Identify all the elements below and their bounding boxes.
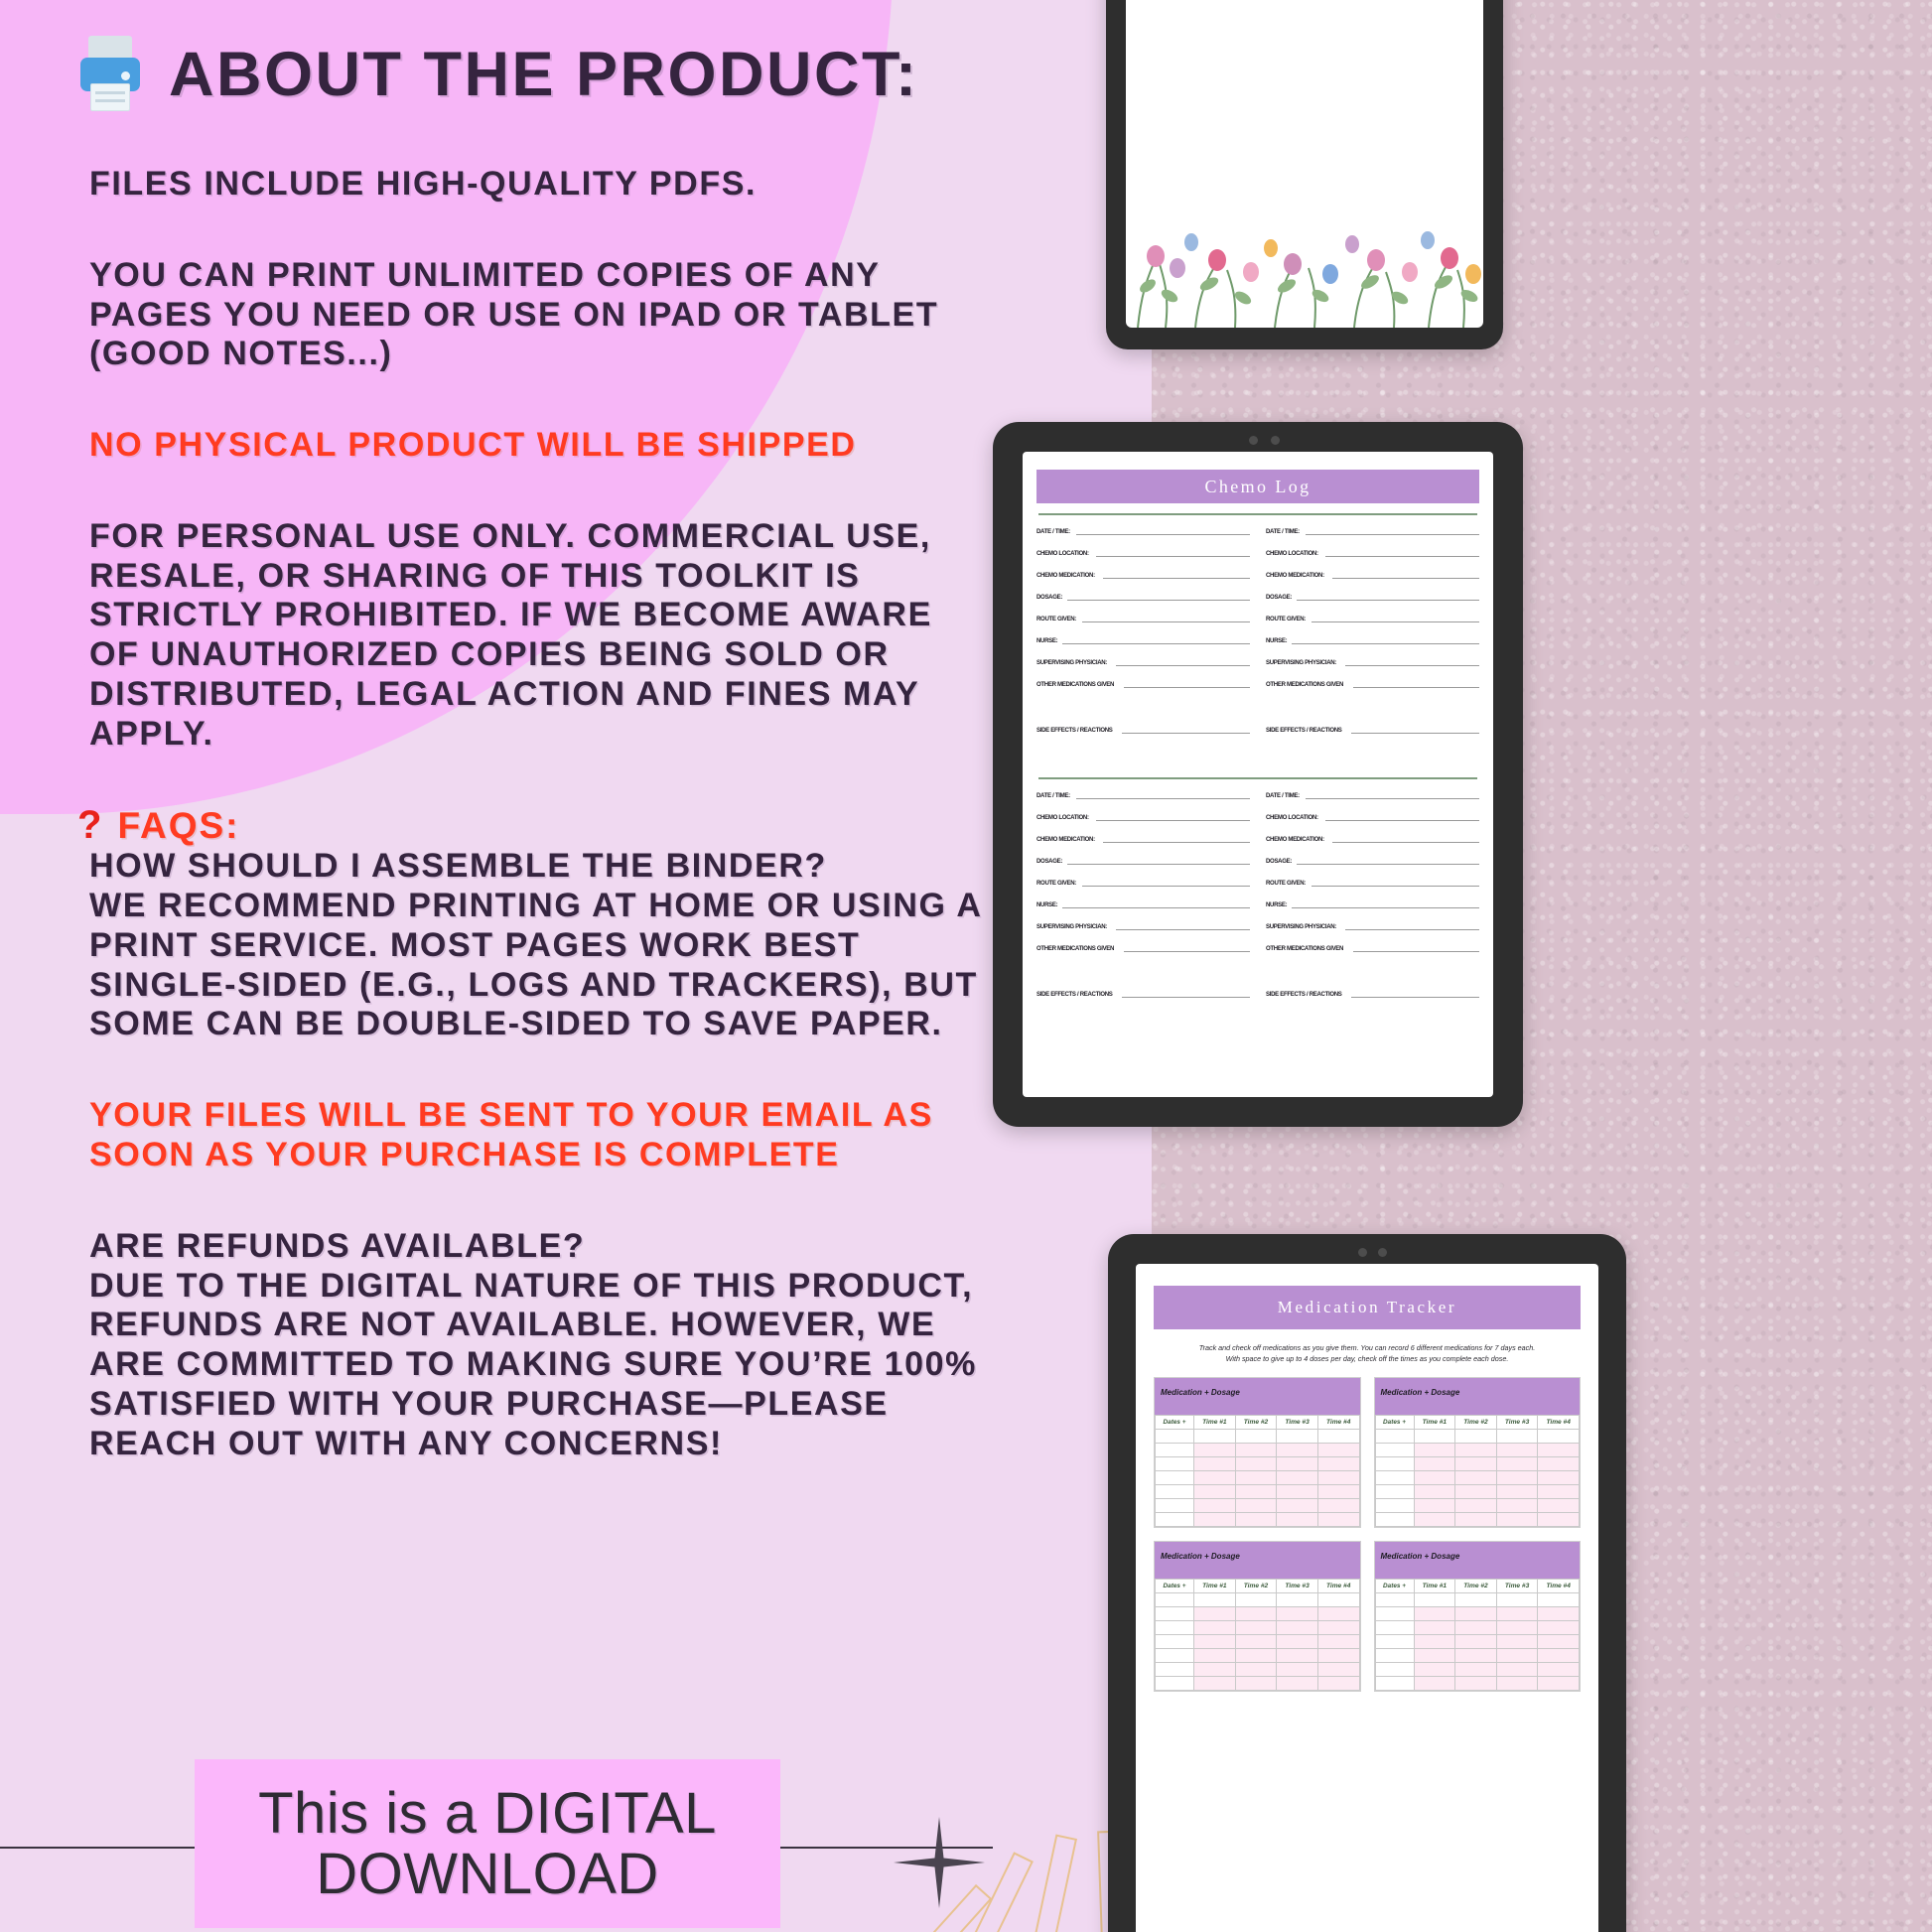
time-cell[interactable] [1538,1471,1580,1485]
chemo-field-line[interactable] [1311,879,1479,887]
chemo-field-label: ROUTE GIVEN: [1266,616,1306,622]
chemo-field-label: NURSE: [1036,901,1057,908]
chemo-side-effects-line[interactable] [1122,726,1250,734]
medication-table: Dates +Time #1Time #2Time #3Time #4 [1155,1579,1360,1691]
date-cell[interactable] [1375,1663,1414,1677]
chemo-field: SUPERVISING PHYSICIAN: [1266,922,1479,930]
time-cell[interactable] [1538,1457,1580,1471]
table-row [1156,1677,1360,1691]
time-cell[interactable] [1235,1485,1277,1499]
time-cell[interactable] [1455,1499,1497,1513]
time-cell[interactable] [1414,1430,1455,1444]
time-cell[interactable] [1496,1635,1538,1649]
medication-card-header-label: Medication + Dosage [1161,1388,1240,1397]
time-cell[interactable] [1235,1513,1277,1527]
chemo-field-line[interactable] [1292,900,1479,908]
chemo-field-line[interactable] [1116,922,1250,930]
table-row [1375,1677,1580,1691]
time-cell[interactable] [1455,1649,1497,1663]
time-cell[interactable] [1496,1457,1538,1471]
table-row [1156,1471,1360,1485]
chemo-field-line[interactable] [1103,835,1250,843]
date-cell[interactable] [1156,1471,1194,1485]
time-cell[interactable] [1235,1607,1277,1621]
time-cell[interactable] [1496,1663,1538,1677]
time-cell[interactable] [1277,1471,1318,1485]
table-row [1156,1499,1360,1513]
date-cell[interactable] [1156,1621,1194,1635]
column-header: Time #1 [1194,1580,1236,1593]
date-cell[interactable] [1156,1677,1194,1691]
text-email-notice: YOUR FILES WILL BE SENT TO YOUR EMAIL AS… [0,1096,1033,1175]
faq-question-refunds: ARE REFUNDS AVAILABLE? [0,1227,1033,1267]
time-cell[interactable] [1194,1471,1236,1485]
chemo-field-label: DATE / TIME: [1266,792,1300,799]
chemo-field-label: CHEMO LOCATION: [1036,814,1089,821]
time-cell[interactable] [1235,1621,1277,1635]
chemo-log-title: Chemo Log [1204,477,1311,497]
chemo-field-line[interactable] [1082,879,1250,887]
time-cell[interactable] [1235,1471,1277,1485]
chemo-log-screen: Chemo Log DATE / TIME:CHEMO LOCATION:CHE… [1023,452,1493,1097]
date-cell[interactable] [1375,1649,1414,1663]
time-cell[interactable] [1455,1457,1497,1471]
column-header: Time #3 [1496,1580,1538,1593]
date-cell[interactable] [1375,1607,1414,1621]
chemo-field: DOSAGE: [1266,593,1479,601]
time-cell[interactable] [1317,1635,1359,1649]
chemo-field-label: NURSE: [1036,637,1057,644]
time-cell[interactable] [1235,1457,1277,1471]
time-cell[interactable] [1235,1649,1277,1663]
habit-tracker-page: Talk to friendsJournal for 15 minListen … [1126,0,1483,328]
chemo-field-line[interactable] [1076,791,1250,799]
time-cell[interactable] [1317,1593,1359,1607]
chemo-field: SUPERVISING PHYSICIAN: [1036,922,1250,930]
time-cell[interactable] [1194,1635,1236,1649]
table-row [1375,1499,1580,1513]
chemo-field-label: CHEMO MEDICATION: [1266,836,1324,843]
chemo-field-line[interactable] [1325,549,1479,557]
chemo-side-effects: SIDE EFFECTS / REACTIONS [1036,990,1250,998]
time-cell[interactable] [1277,1607,1318,1621]
chemo-side-effects-line[interactable] [1122,990,1250,998]
chemo-field-label: OTHER MEDICATIONS GIVEN [1266,681,1343,688]
time-cell[interactable] [1496,1485,1538,1499]
time-cell[interactable] [1277,1621,1318,1635]
time-cell[interactable] [1496,1593,1538,1607]
chemo-field: ROUTE GIVEN: [1036,615,1250,622]
date-cell[interactable] [1375,1513,1414,1527]
chemo-field: NURSE: [1266,636,1479,644]
text-files-include: FILES INCLUDE HIGH-QUALITY PDFS. [0,165,1033,205]
time-cell[interactable] [1414,1485,1455,1499]
date-cell[interactable] [1156,1663,1194,1677]
chemo-field: NURSE: [1036,636,1250,644]
date-cell[interactable] [1375,1471,1414,1485]
time-cell[interactable] [1538,1635,1580,1649]
date-cell[interactable] [1375,1457,1414,1471]
date-cell[interactable] [1375,1485,1414,1499]
date-cell[interactable] [1156,1457,1194,1471]
chemo-field-label: NURSE: [1266,901,1287,908]
chemo-side-effects-line[interactable] [1351,990,1479,998]
medication-card: Medication + DosageDates +Time #1Time #2… [1154,1541,1361,1692]
time-cell[interactable] [1277,1430,1318,1444]
column-header: Dates + [1375,1580,1414,1593]
date-cell[interactable] [1156,1593,1194,1607]
medication-card-header-label: Medication + Dosage [1381,1388,1460,1397]
chemo-log-page: Chemo Log DATE / TIME:CHEMO LOCATION:CHE… [1023,452,1493,1097]
chemo-field: OTHER MEDICATIONS GIVEN [1036,944,1250,952]
time-cell[interactable] [1538,1649,1580,1663]
time-cell[interactable] [1235,1663,1277,1677]
time-cell[interactable] [1455,1635,1497,1649]
chemo-field: CHEMO MEDICATION: [1036,835,1250,843]
time-cell[interactable] [1317,1663,1359,1677]
time-cell[interactable] [1194,1663,1236,1677]
date-cell[interactable] [1156,1485,1194,1499]
time-cell[interactable] [1455,1663,1497,1677]
table-row [1375,1635,1580,1649]
time-cell[interactable] [1277,1677,1318,1691]
column-header: Time #1 [1414,1580,1455,1593]
chemo-side-effects-label: SIDE EFFECTS / REACTIONS [1036,727,1113,734]
time-cell[interactable] [1496,1513,1538,1527]
column-header: Time #4 [1317,1580,1359,1593]
chemo-side-effects-label: SIDE EFFECTS / REACTIONS [1036,991,1113,998]
time-cell[interactable] [1317,1444,1359,1457]
time-cell[interactable] [1538,1607,1580,1621]
time-cell[interactable] [1496,1444,1538,1457]
time-cell[interactable] [1455,1607,1497,1621]
time-cell[interactable] [1414,1677,1455,1691]
chemo-field: CHEMO LOCATION: [1036,549,1250,557]
chemo-field-label: ROUTE GIVEN: [1036,880,1076,887]
table-row [1156,1663,1360,1677]
chemo-side-effects: SIDE EFFECTS / REACTIONS [1266,990,1479,998]
medication-card-header[interactable]: Medication + Dosage [1155,1378,1360,1415]
time-cell[interactable] [1414,1607,1455,1621]
chemo-field-label: OTHER MEDICATIONS GIVEN [1266,945,1343,952]
floral-illustration [1126,179,1483,328]
table-row [1156,1649,1360,1663]
time-cell[interactable] [1496,1621,1538,1635]
table-row [1375,1649,1580,1663]
chemo-field: NURSE: [1036,900,1250,908]
text-no-physical-product: NO PHYSICAL PRODUCT WILL BE SHIPPED [0,426,1033,466]
time-cell[interactable] [1538,1663,1580,1677]
divider [1038,513,1477,515]
time-cell[interactable] [1455,1513,1497,1527]
chemo-field-line[interactable] [1292,636,1479,644]
chemo-field-line[interactable] [1345,922,1479,930]
time-cell[interactable] [1235,1635,1277,1649]
chemo-field-line[interactable] [1297,857,1479,865]
table-row [1156,1593,1360,1607]
chemo-field-line[interactable] [1103,571,1250,579]
badge-line-2: DOWNLOAD [316,1844,659,1904]
habit-tracker-screen: Talk to friendsJournal for 15 minListen … [1126,0,1483,328]
chemo-field-line[interactable] [1116,658,1250,666]
date-cell[interactable] [1375,1430,1414,1444]
time-cell[interactable] [1496,1430,1538,1444]
tablet-habit-tracker: Talk to friendsJournal for 15 minListen … [1106,0,1503,349]
chemo-field-line[interactable] [1062,900,1250,908]
chemo-field-line[interactable] [1332,835,1479,843]
column-header: Time #2 [1455,1416,1497,1430]
chemo-field-line[interactable] [1062,636,1250,644]
time-cell[interactable] [1235,1593,1277,1607]
time-cell[interactable] [1414,1457,1455,1471]
column-header: Time #3 [1277,1416,1318,1430]
date-cell[interactable] [1375,1677,1414,1691]
time-cell[interactable] [1194,1649,1236,1663]
page-title: ABOUT THE PRODUCT: [169,39,918,110]
time-cell[interactable] [1277,1499,1318,1513]
chemo-field-line[interactable] [1325,813,1479,821]
column-header: Time #4 [1538,1580,1580,1593]
column-header: Time #4 [1317,1416,1359,1430]
column-header: Time #2 [1455,1580,1497,1593]
time-cell[interactable] [1414,1471,1455,1485]
chemo-field-label: CHEMO MEDICATION: [1036,836,1095,843]
table-row [1375,1444,1580,1457]
time-cell[interactable] [1194,1677,1236,1691]
time-cell[interactable] [1496,1607,1538,1621]
time-cell[interactable] [1235,1677,1277,1691]
chemo-field-line[interactable] [1082,615,1250,622]
date-cell[interactable] [1375,1593,1414,1607]
date-cell[interactable] [1156,1430,1194,1444]
column-header: Time #4 [1538,1416,1580,1430]
chemo-field-label: CHEMO MEDICATION: [1266,572,1324,579]
time-cell[interactable] [1194,1593,1236,1607]
chemo-field: SUPERVISING PHYSICIAN: [1036,658,1250,666]
time-cell[interactable] [1455,1621,1497,1635]
table-header-row: Dates +Time #1Time #2Time #3Time #4 [1375,1416,1580,1430]
medication-card-header[interactable]: Medication + Dosage [1155,1542,1360,1579]
chemo-field-label: DATE / TIME: [1036,528,1070,535]
time-cell[interactable] [1455,1444,1497,1457]
date-cell[interactable] [1375,1621,1414,1635]
table-row [1375,1607,1580,1621]
time-cell[interactable] [1317,1430,1359,1444]
date-cell[interactable] [1375,1499,1414,1513]
chemo-field-line[interactable] [1353,944,1479,952]
time-cell[interactable] [1235,1444,1277,1457]
time-cell[interactable] [1277,1457,1318,1471]
chemo-field-line[interactable] [1306,527,1479,535]
table-row [1156,1513,1360,1527]
time-cell[interactable] [1496,1471,1538,1485]
time-cell[interactable] [1538,1499,1580,1513]
about-header: ABOUT THE PRODUCT: [0,0,1033,113]
chemo-field: DOSAGE: [1036,857,1250,865]
medication-card-header-label: Medication + Dosage [1161,1552,1240,1561]
time-cell[interactable] [1317,1471,1359,1485]
chemo-field-label: CHEMO LOCATION: [1266,814,1318,821]
chemo-entry: DATE / TIME:CHEMO LOCATION:CHEMO MEDICAT… [1266,791,1479,1037]
table-row [1375,1593,1580,1607]
tablet-medication-tracker: Medication Tracker Track and check off m… [1108,1234,1626,1932]
time-cell[interactable] [1277,1663,1318,1677]
time-cell[interactable] [1317,1457,1359,1471]
chemo-field: CHEMO MEDICATION: [1036,571,1250,579]
time-cell[interactable] [1194,1457,1236,1471]
table-row [1156,1621,1360,1635]
time-cell[interactable] [1496,1499,1538,1513]
chemo-field: CHEMO MEDICATION: [1266,835,1479,843]
date-cell[interactable] [1156,1635,1194,1649]
chemo-field-line[interactable] [1332,571,1479,579]
chemo-field-line[interactable] [1306,791,1479,799]
chemo-field-label: DOSAGE: [1266,858,1292,865]
time-cell[interactable] [1414,1444,1455,1457]
chemo-field-line[interactable] [1067,593,1250,601]
chemo-field-label: SUPERVISING PHYSICIAN: [1266,659,1336,666]
time-cell[interactable] [1277,1444,1318,1457]
chemo-field-line[interactable] [1124,680,1250,688]
table-row [1156,1635,1360,1649]
medication-table: Dates +Time #1Time #2Time #3Time #4 [1375,1579,1581,1691]
medication-tracker-page: Medication Tracker Track and check off m… [1136,1264,1598,1932]
time-cell[interactable] [1455,1677,1497,1691]
chemo-log-entries: DATE / TIME:CHEMO LOCATION:CHEMO MEDICAT… [1036,527,1479,1037]
time-cell[interactable] [1194,1621,1236,1635]
medication-tracker-subtitle: Track and check off medications as you g… [1154,1342,1581,1364]
medication-tracker-screen: Medication Tracker Track and check off m… [1136,1264,1598,1932]
table-row [1375,1663,1580,1677]
column-header: Time #2 [1235,1416,1277,1430]
time-cell[interactable] [1538,1621,1580,1635]
date-cell[interactable] [1156,1444,1194,1457]
chemo-field-line[interactable] [1124,944,1250,952]
time-cell[interactable] [1455,1593,1497,1607]
time-cell[interactable] [1538,1593,1580,1607]
time-cell[interactable] [1414,1499,1455,1513]
faq-answer-refunds: DUE TO THE DIGITAL NATURE OF THIS PRODUC… [0,1267,1033,1464]
chemo-field-line[interactable] [1096,549,1250,557]
time-cell[interactable] [1194,1607,1236,1621]
date-cell[interactable] [1375,1444,1414,1457]
time-cell[interactable] [1317,1499,1359,1513]
time-cell[interactable] [1235,1430,1277,1444]
time-cell[interactable] [1194,1430,1236,1444]
time-cell[interactable] [1414,1663,1455,1677]
chemo-field-label: SUPERVISING PHYSICIAN: [1036,659,1107,666]
chemo-field: DATE / TIME: [1266,791,1479,799]
date-cell[interactable] [1156,1649,1194,1663]
time-cell[interactable] [1277,1649,1318,1663]
time-cell[interactable] [1414,1621,1455,1635]
medication-tracker-title-bar: Medication Tracker [1154,1286,1581,1329]
faq-heading: ? FAQS: [0,805,1033,847]
time-cell[interactable] [1496,1677,1538,1691]
date-cell[interactable] [1156,1513,1194,1527]
date-cell[interactable] [1156,1499,1194,1513]
time-cell[interactable] [1194,1513,1236,1527]
chemo-field-line[interactable] [1297,593,1479,601]
table-row [1375,1485,1580,1499]
time-cell[interactable] [1317,1649,1359,1663]
chemo-field-line[interactable] [1067,857,1250,865]
chemo-field-label: DATE / TIME: [1266,528,1300,535]
chemo-side-effects-line[interactable] [1351,726,1479,734]
time-cell[interactable] [1277,1513,1318,1527]
time-cell[interactable] [1317,1677,1359,1691]
time-cell[interactable] [1538,1444,1580,1457]
table-row [1375,1457,1580,1471]
time-cell[interactable] [1414,1635,1455,1649]
chemo-field: DOSAGE: [1036,593,1250,601]
chemo-field-label: NURSE: [1266,637,1287,644]
column-header: Time #1 [1194,1416,1236,1430]
time-cell[interactable] [1538,1430,1580,1444]
time-cell[interactable] [1455,1471,1497,1485]
chemo-field: CHEMO LOCATION: [1036,813,1250,821]
time-cell[interactable] [1277,1485,1318,1499]
time-cell[interactable] [1194,1499,1236,1513]
time-cell[interactable] [1235,1499,1277,1513]
chemo-field-label: CHEMO LOCATION: [1266,550,1318,557]
table-header-row: Dates +Time #1Time #2Time #3Time #4 [1156,1416,1360,1430]
time-cell[interactable] [1194,1444,1236,1457]
medication-card: Medication + DosageDates +Time #1Time #2… [1374,1377,1582,1528]
chemo-entry: DATE / TIME:CHEMO LOCATION:CHEMO MEDICAT… [1036,527,1250,773]
date-cell[interactable] [1156,1607,1194,1621]
time-cell[interactable] [1277,1593,1318,1607]
time-cell[interactable] [1414,1649,1455,1663]
column-header: Time #3 [1277,1580,1318,1593]
chemo-field-line[interactable] [1076,527,1250,535]
time-cell[interactable] [1414,1593,1455,1607]
chemo-side-effects: SIDE EFFECTS / REACTIONS [1266,726,1479,734]
chemo-side-effects-label: SIDE EFFECTS / REACTIONS [1266,991,1342,998]
subtitle-line-1: Track and check off medications as you g… [1175,1342,1559,1353]
time-cell[interactable] [1538,1485,1580,1499]
chemo-field-line[interactable] [1311,615,1479,622]
medication-card-header[interactable]: Medication + Dosage [1375,1542,1581,1579]
chemo-field-label: DOSAGE: [1266,594,1292,601]
chemo-field-line[interactable] [1096,813,1250,821]
time-cell[interactable] [1317,1621,1359,1635]
date-cell[interactable] [1375,1635,1414,1649]
time-cell[interactable] [1317,1513,1359,1527]
table-row [1375,1621,1580,1635]
time-cell[interactable] [1317,1485,1359,1499]
time-cell[interactable] [1455,1485,1497,1499]
time-cell[interactable] [1317,1607,1359,1621]
camera-dot-2 [1378,1248,1387,1257]
time-cell[interactable] [1455,1430,1497,1444]
medication-tracker-title: Medication Tracker [1278,1298,1456,1317]
chemo-field-line[interactable] [1353,680,1479,688]
chemo-field-line[interactable] [1345,658,1479,666]
medication-card-header-label: Medication + Dosage [1381,1552,1460,1561]
time-cell[interactable] [1538,1677,1580,1691]
chemo-field: NURSE: [1266,900,1479,908]
column-header: Time #1 [1414,1416,1455,1430]
time-cell[interactable] [1277,1635,1318,1649]
medication-card-header[interactable]: Medication + Dosage [1375,1378,1581,1415]
chemo-field-label: ROUTE GIVEN: [1036,616,1076,622]
time-cell[interactable] [1414,1513,1455,1527]
time-cell[interactable] [1194,1485,1236,1499]
time-cell[interactable] [1496,1649,1538,1663]
chemo-field: CHEMO MEDICATION: [1266,571,1479,579]
time-cell[interactable] [1538,1513,1580,1527]
